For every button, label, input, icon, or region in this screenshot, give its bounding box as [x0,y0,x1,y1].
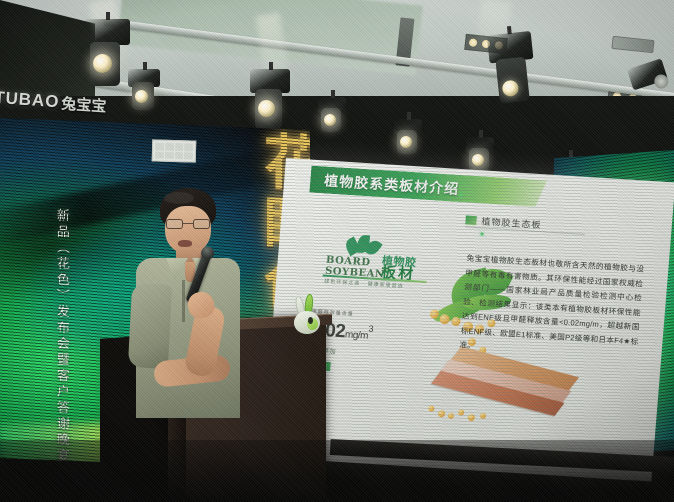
badge-cell [165,151,174,159]
speaker-mouth [178,240,192,247]
emission-unit: mg/m [345,329,369,341]
led-vertical-text-primary: 新品（花色）发布会暨客户答谢晚宴 [52,208,71,465]
badge-cell [155,151,164,159]
soybean [428,405,434,411]
speaker [130,188,260,418]
light-lens [93,54,112,73]
ceiling-vent [611,36,654,53]
light-lens [324,114,336,126]
slide-title-banner: 植物胶系类板材介绍 [309,166,547,208]
brand-sign-text: TUBAO [0,88,60,113]
downlight-bulb [468,38,477,47]
badge-cell [165,143,174,151]
conference-presentation-photo: TUBAO 兔宝宝 花眼色彩新视界 新品（花色）发布会暨客户答谢晚宴 兔宝宝家具… [0,0,674,502]
light-lens [472,154,484,166]
glasses-lens [193,219,210,229]
light-lens [258,100,275,117]
soybean [468,414,476,421]
polo-placket [182,280,185,322]
badge-cell [175,143,184,151]
moving-head-light [394,112,424,158]
brand-sign-text-cn: 兔宝宝 [61,92,107,116]
soybean [448,413,454,419]
projector-pixel-dot [480,232,483,235]
moving-head-light [84,12,132,90]
glasses-lens [166,219,183,229]
certification-badge-icon [152,139,197,162]
glasses-bridge [183,223,193,224]
moving-head-light [318,90,348,136]
badge-cell [155,143,164,151]
moving-head-light [486,24,540,106]
badge-cell [184,143,193,151]
soybean [438,410,446,417]
soybean [458,409,464,415]
badge-cell [184,152,193,160]
emission-unit-exponent: 3 [368,324,373,334]
rabbit-mascot [292,296,326,336]
mascot-eye [308,317,313,324]
eyeglasses-icon [166,219,210,229]
soybean [480,413,486,419]
subtitle-marker-icon [465,215,477,225]
slide-body-text: 兔宝宝植物胶生态板材也敬所含天然的植物胶与没甲醛等有毒有害物质。其环保性能经过国… [459,252,645,364]
light-lens [400,136,412,148]
moving-head-light [250,62,292,134]
speaker-sleeve [128,283,172,369]
soybean [439,314,450,325]
badge-cell [174,152,183,160]
stage-floor [0,440,674,502]
soybean [451,317,461,327]
slide-title: 植物胶系类板材介绍 [324,170,460,198]
